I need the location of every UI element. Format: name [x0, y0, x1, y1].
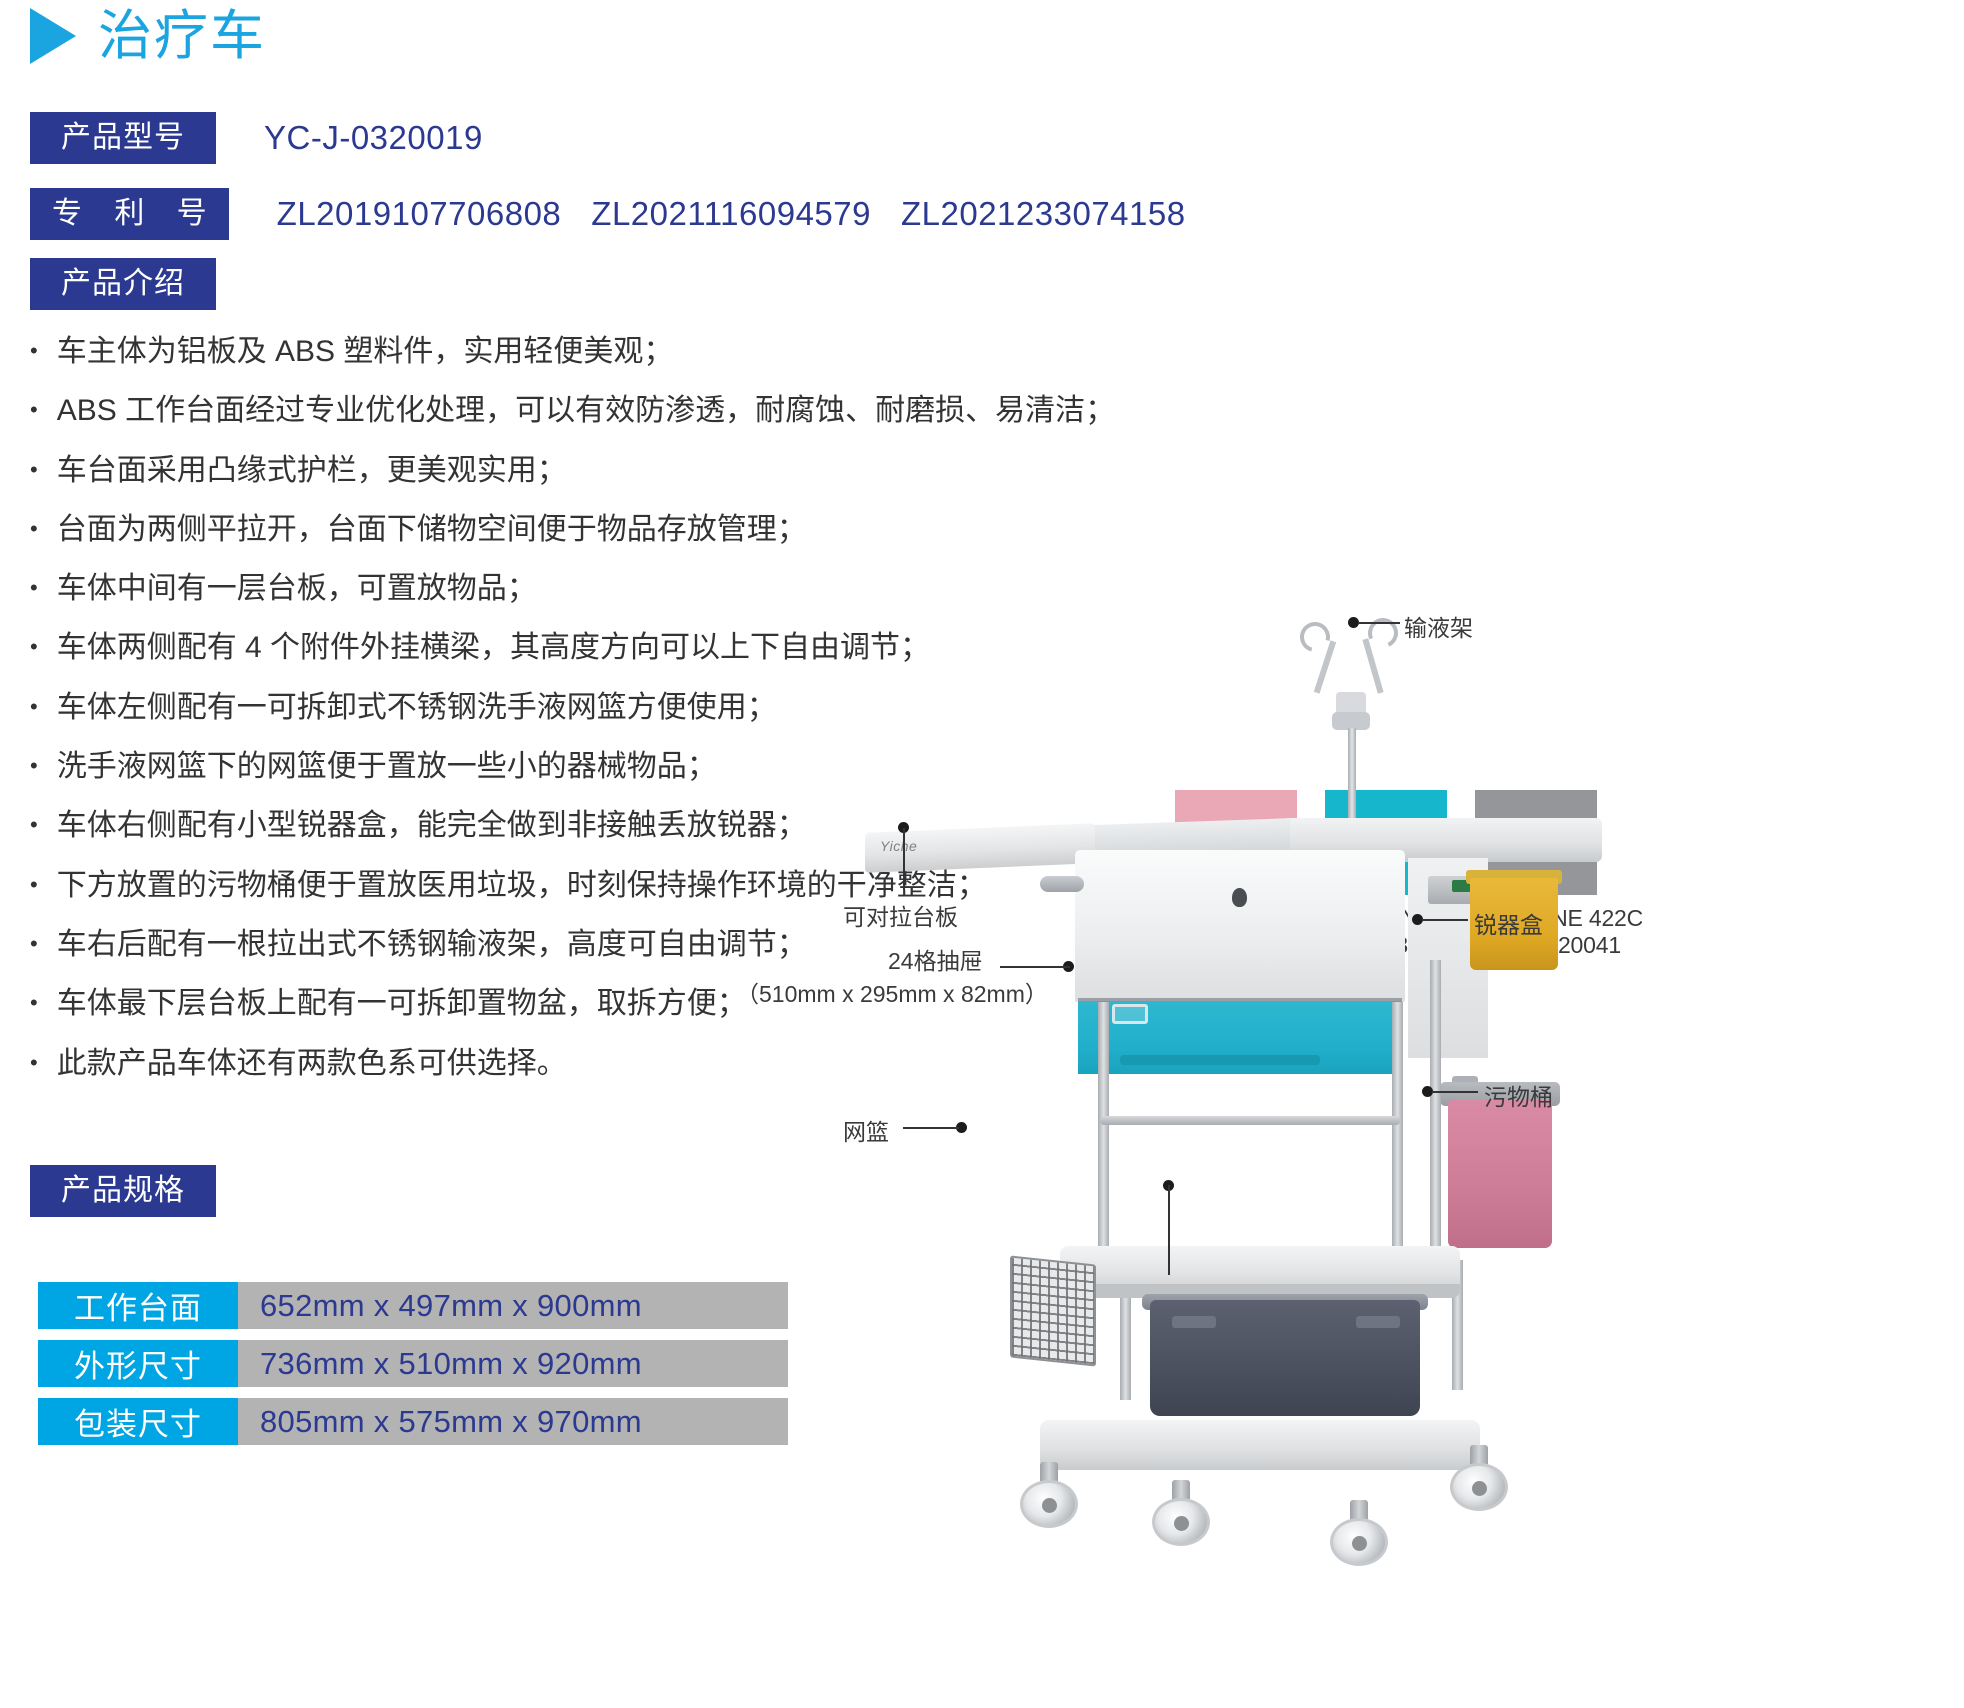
callout-leader-line [1432, 1091, 1478, 1093]
brand-logo: Yiche [880, 838, 917, 854]
callout-drawer: 24格抽屉 [888, 942, 983, 976]
callout-wire-basket: 网篮 [843, 1113, 889, 1147]
castor-wheel [1450, 1445, 1508, 1511]
cross-rail [1100, 1116, 1400, 1125]
patent-number-item: ZL2019107706808 [277, 195, 562, 233]
castor-hub [1174, 1516, 1189, 1531]
callout-drawer-dimensions: （510mm x 295mm x 82mm） [736, 975, 1048, 1009]
callout-pull-board: 可对拉台板 [843, 898, 958, 932]
callout-leader-line [1000, 966, 1070, 968]
frame-post [1120, 1290, 1131, 1400]
product-catalog-page: 治疗车 产品型号 YC-J-0320019 专 利 号 ZL2019107706… [0, 0, 1964, 1708]
castor-wheel [1152, 1480, 1210, 1546]
patent-number-label: 专 利 号 [30, 188, 229, 240]
product-photo: Yiche [1000, 600, 1964, 1708]
wire-basket [1010, 1255, 1096, 1366]
page-title: 治疗车 [98, 9, 266, 63]
bullet-icon: • [30, 626, 38, 668]
product-intro-label: 产品介绍 [30, 258, 216, 310]
callout-leader-line [1358, 622, 1400, 624]
castor-hub [1352, 1536, 1367, 1551]
bullet-icon: • [30, 330, 38, 372]
feature-text: 车台面采用凸缘式护栏，更美观实用； [57, 449, 567, 493]
page-header: 治疗车 [30, 8, 266, 64]
storage-tub-handle [1356, 1316, 1400, 1328]
bullet-icon: • [30, 804, 38, 846]
callout-iv-pole: 输液架 [1404, 609, 1473, 643]
specification-table: 工作台面 652mm x 497mm x 900mm 外形尺寸 736mm x … [38, 1282, 788, 1456]
list-item: • 车台面采用凸缘式护栏，更美观实用； [30, 449, 1210, 493]
feature-text: 车体两侧配有 4 个附件外挂横梁，其高度方向可以上下自由调节； [57, 626, 930, 670]
bottom-shelf [1040, 1420, 1480, 1470]
callout-waste-bin: 污物桶 [1484, 1078, 1553, 1112]
waste-bin [1448, 1100, 1552, 1248]
bullet-icon: • [30, 389, 38, 431]
product-model-label: 产品型号 [30, 112, 216, 164]
patent-number-list: ZL2019107706808 ZL2021116094579 ZL202123… [277, 195, 1186, 233]
spec-key: 外形尺寸 [38, 1340, 238, 1387]
spec-key: 包装尺寸 [38, 1398, 238, 1445]
patent-number-row: 专 利 号 ZL2019107706808 ZL2021116094579 ZL… [30, 188, 1186, 240]
product-model-value: YC-J-0320019 [264, 119, 483, 157]
castor-hub [1472, 1481, 1487, 1496]
spec-value: 805mm x 575mm x 970mm [238, 1398, 788, 1445]
spec-value: 736mm x 510mm x 920mm [238, 1340, 788, 1387]
cabinet-handle [1040, 876, 1084, 892]
table-row: 工作台面 652mm x 497mm x 900mm [38, 1282, 788, 1329]
spec-value: 652mm x 497mm x 900mm [238, 1282, 788, 1329]
product-model-row: 产品型号 YC-J-0320019 [30, 112, 483, 164]
drawer-label-holder [1112, 1004, 1148, 1024]
callout-leader-line [1168, 1185, 1170, 1275]
patent-number-item: ZL2021233074158 [901, 195, 1186, 233]
lock-icon [1232, 888, 1247, 907]
feature-text: 台面为两侧平拉开，台面下储物空间便于物品存放管理； [57, 508, 807, 552]
feature-text: ABS 工作台面经过专业优化处理，可以有效防渗透，耐腐蚀、耐磨损、易清洁； [57, 389, 1115, 433]
list-item: • 车主体为铝板及 ABS 塑料件，实用轻便美观； [30, 330, 1210, 374]
frame-post [1098, 1002, 1109, 1260]
feature-text: 车体中间有一层台板，可置放物品； [57, 567, 537, 611]
castor-wheel [1330, 1500, 1388, 1566]
feature-text: 车主体为铝板及 ABS 塑料件，实用轻便美观； [57, 330, 674, 374]
product-intro-section-header: 产品介绍 [30, 258, 216, 310]
bullet-icon: • [30, 923, 38, 965]
feature-text: 此款产品车体还有两款色系可供选择。 [57, 1042, 567, 1086]
list-item: • ABS 工作台面经过专业优化处理，可以有效防渗透，耐腐蚀、耐磨损、易清洁； [30, 389, 1210, 433]
bullet-icon: • [30, 1042, 38, 1084]
cabinet-body [1075, 850, 1405, 1002]
callout-sharps-box: 锐器盒 [1474, 906, 1543, 940]
castor-hub [1042, 1498, 1057, 1513]
frame-post [1392, 1002, 1403, 1260]
castor-wheel [1020, 1462, 1078, 1528]
feature-text: 车体左侧配有一可拆卸式不锈钢洗手液网篮方便使用； [57, 686, 777, 730]
feature-text: 车右后配有一根拉出式不锈钢输液架，高度可自由调节； [57, 923, 807, 967]
table-row: 外形尺寸 736mm x 510mm x 920mm [38, 1340, 788, 1387]
drawer-pull-lip [1120, 1055, 1320, 1065]
callout-leader-line [1422, 919, 1468, 921]
feature-text: 洗手液网篮下的网篮便于置放一些小的器械物品； [57, 745, 717, 789]
bullet-icon: • [30, 508, 38, 550]
frame-post [1430, 960, 1441, 1260]
spec-key: 工作台面 [38, 1282, 238, 1329]
storage-tub-handle [1172, 1316, 1216, 1328]
table-row: 包装尺寸 805mm x 575mm x 970mm [38, 1398, 788, 1445]
bullet-icon: • [30, 745, 38, 787]
bullet-icon: • [30, 567, 38, 609]
product-spec-label: 产品规格 [30, 1165, 216, 1217]
product-spec-section-header: 产品规格 [30, 1165, 216, 1217]
list-item: • 台面为两侧平拉开，台面下储物空间便于物品存放管理； [30, 508, 1210, 552]
callout-leader-line [903, 828, 905, 890]
play-triangle-icon [30, 8, 76, 64]
callout-leader-line [903, 1127, 959, 1129]
bullet-icon: • [30, 686, 38, 728]
bullet-icon: • [30, 982, 38, 1024]
bullet-icon: • [30, 449, 38, 491]
bullet-icon: • [30, 864, 38, 906]
feature-text: 车体右侧配有小型锐器盒，能完全做到非接触丢放锐器； [57, 804, 807, 848]
patent-number-item: ZL2021116094579 [591, 195, 871, 233]
feature-text: 车体最下层台板上配有一可拆卸置物盆，取拆方便； [57, 982, 747, 1026]
